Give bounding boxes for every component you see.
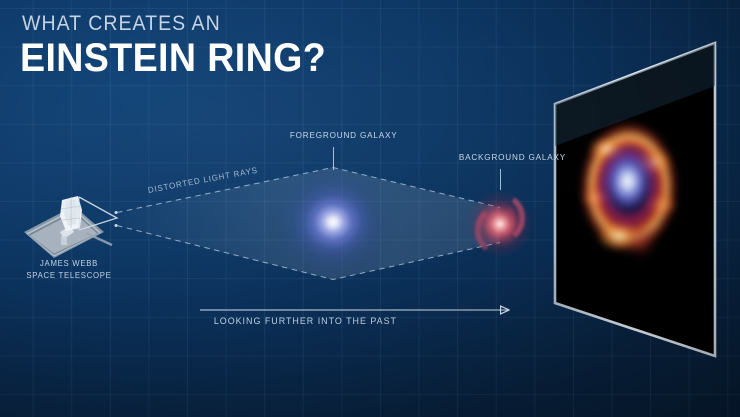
einstein-ring-graphic (578, 119, 680, 255)
ring-tail-blob (623, 222, 658, 260)
page-title: EINSTEIN RING? (20, 36, 326, 80)
james-webb-space-telescope-icon (24, 196, 117, 258)
background-galaxy-label: BACKGROUND GALAXY (459, 152, 566, 162)
kicker-text: WHAT CREATES AN (22, 12, 221, 36)
foreground-galaxy-leader-line (333, 147, 334, 170)
telescope-label: JAMES WEBB SPACE TELESCOPE (26, 258, 112, 281)
infographic-canvas: WHAT CREATES AN EINSTEIN RING? DISTORTED… (0, 0, 740, 417)
ring-lensed-core (596, 141, 661, 225)
telescope-label-line-2: SPACE TELESCOPE (26, 270, 112, 282)
timeline-label: LOOKING FURTHER INTO THE PAST (214, 315, 397, 326)
background-galaxy-leader-line (500, 169, 501, 190)
foreground-galaxy-label: FOREGROUND GALAXY (290, 130, 398, 140)
telescope-label-line-1: JAMES WEBB (26, 258, 112, 270)
einstein-ring-image-panel[interactable] (540, 26, 740, 371)
